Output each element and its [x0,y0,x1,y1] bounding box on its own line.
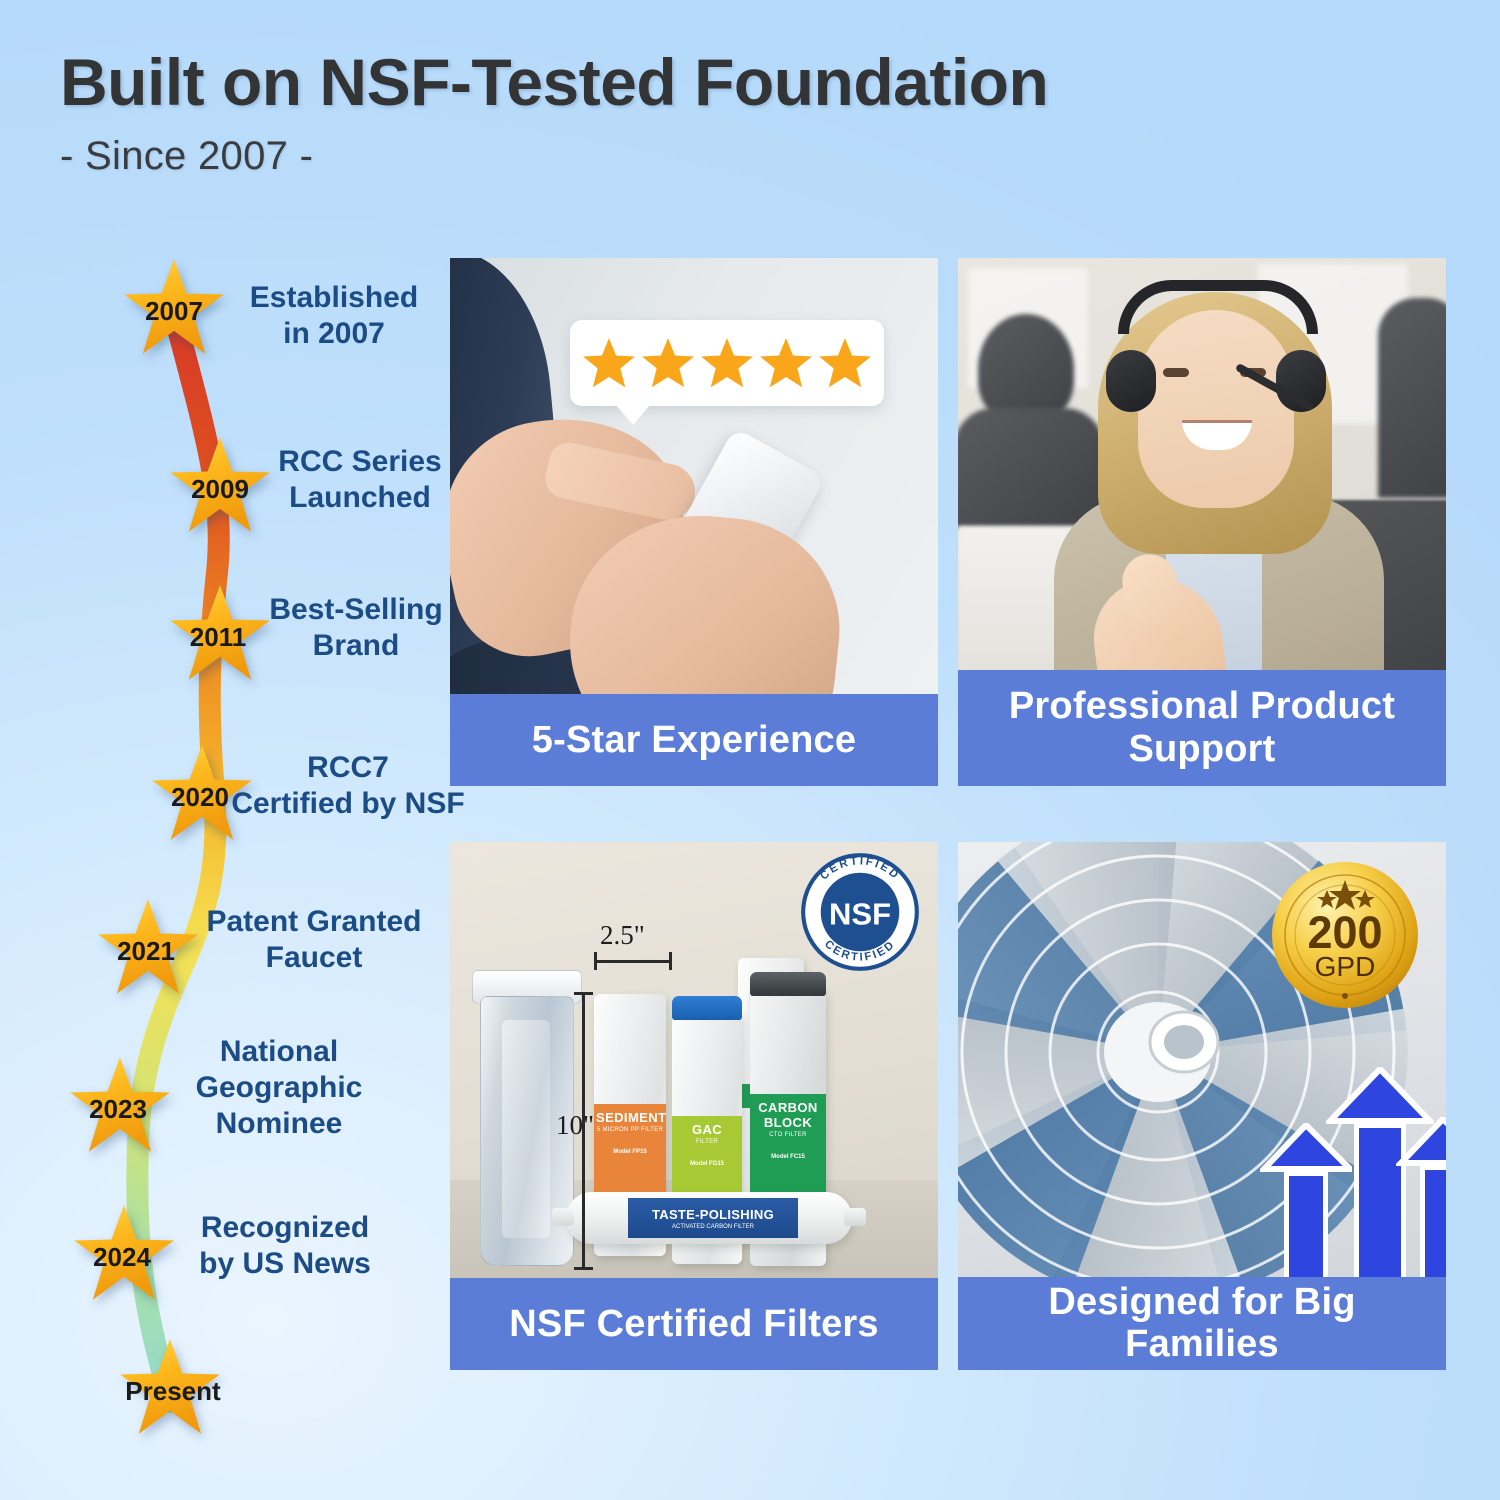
cartridge-sub: 5 MICRON PP FILTER [596,1127,664,1133]
feature-card-nsf-certified-filters[interactable]: NSF CERTIFIED CERTIFIED [450,842,938,1370]
width-dimension-line [594,960,672,963]
cartridge-sub: ACTIVATED CARBON FILTER [628,1224,798,1230]
timeline-label: National Geographic Nominee [162,1034,396,1142]
background-person [958,408,1104,528]
cartridge-name: SEDIMENT [596,1110,664,1125]
five-star-review-photo [450,258,938,694]
height-dimension-tick [574,992,593,995]
timeline-year: 2021 [92,936,200,967]
card-caption: 5-Star Experience [450,694,938,786]
timeline-year: 2024 [68,1242,176,1273]
housing-core [502,1020,550,1238]
gpd-unit: GPD [1315,951,1376,982]
ro-membrane-photo: 200 GPD [958,842,1446,1277]
rating-star-icon [641,336,695,390]
cartridge-band: TASTE-POLISHING ACTIVATED CARBON FILTER [628,1198,798,1238]
feature-card-product-support[interactable]: Professional Product Support [958,258,1446,786]
rating-star-icon [759,336,813,390]
card-caption: Professional Product Support [958,670,1446,786]
cartridge-model: Model FG15 [674,1161,740,1167]
rating-star-icon [700,336,754,390]
rating-star-icon [818,336,872,390]
background-person [1378,298,1446,498]
timeline-label: RCC7 Certified by NSF [224,750,472,822]
width-dimension-label: 2.5" [600,920,645,951]
timeline-year: 2011 [164,622,272,653]
nsf-certified-badge-icon: NSF CERTIFIED CERTIFIED [798,850,922,974]
timeline-year: 2007 [120,296,228,327]
agent-face [1138,310,1294,508]
height-dimension-label: 10" [556,1110,594,1141]
blue-cap [672,996,742,1020]
cartridge-name: GAC [674,1122,740,1137]
headset-earcup-icon [1106,350,1156,412]
height-dimension-tick [574,1267,593,1270]
cartridge-sub: FILTER [674,1139,740,1145]
page-title: Built on NSF-Tested Foundation [60,48,1420,118]
growth-arrow-head-icon [1396,1117,1446,1173]
cartridge-name: TASTE-POLISHING [628,1207,798,1222]
cartridge-model: Model FC15 [752,1154,824,1160]
header: Built on NSF-Tested Foundation - Since 2… [60,48,1420,179]
gpd-badge-icon: 200 GPD [1270,860,1420,1010]
filter-cartridge-taste-polishing: TASTE-POLISHING ACTIVATED CARBON FILTER [566,1192,852,1244]
timeline-label: Best-Selling Brand [248,592,464,664]
rating-star-icon [582,336,636,390]
height-dimension-line [582,992,585,1270]
timeline-label: RCC Series Launched [254,444,466,516]
card-caption: Designed for Big Families [958,1277,1446,1370]
eye [1163,368,1189,377]
width-dimension-tick [594,952,597,970]
card-caption: NSF Certified Filters [450,1278,938,1370]
inline-port [552,1208,574,1226]
filter-cartridges-photo: NSF CERTIFIED CERTIFIED [450,842,938,1278]
timeline-label: Patent Granted Faucet [178,904,450,976]
feature-card-designed-for-big-families[interactable]: 200 GPD Designed for Big Families [958,842,1446,1370]
svg-text:NSF: NSF [829,896,891,931]
cartridge-name: CARBON BLOCK [752,1100,824,1130]
timeline-label: Recognized by US News [162,1210,408,1282]
timeline-year: 2020 [146,782,254,813]
timeline-year: Present [114,1376,232,1407]
support-agent-photo [958,258,1446,670]
growth-arrow-head-icon [1260,1123,1352,1179]
cartridge-sub: CTO FILTER [752,1132,824,1138]
rating-bubble [570,320,884,406]
feature-card-grid: 5-Star Experience [450,258,1446,1370]
feature-card-5-star-experience[interactable]: 5-Star Experience [450,258,938,786]
cartridge-model: Model FP15 [596,1149,664,1155]
headset-band-icon [1118,280,1318,334]
page-subtitle: - Since 2007 - [60,134,1420,179]
timeline-year: 2009 [166,474,274,505]
timeline-label: Established in 2007 [214,280,454,352]
growth-arrow-icon [1284,1171,1328,1277]
width-dimension-tick [669,952,672,970]
infographic-page: Built on NSF-Tested Foundation - Since 2… [0,0,1500,1500]
timeline-year: 2023 [64,1094,172,1125]
company-timeline: 2007 Established in 2007 2009 RCC Series… [58,252,450,1432]
dark-cap [750,972,826,996]
inline-port [844,1208,866,1226]
growth-arrow-icon [1420,1165,1446,1277]
